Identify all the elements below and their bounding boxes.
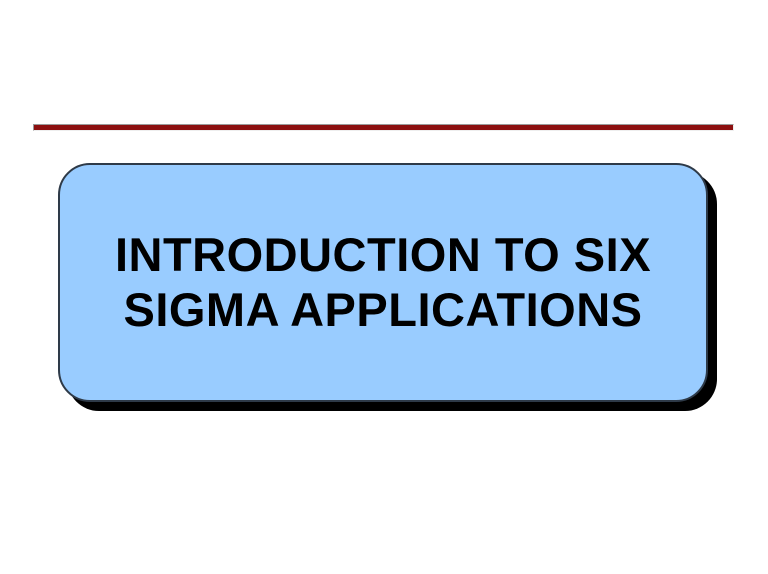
slide-title: INTRODUCTION TO SIX SIGMA APPLICATIONS	[101, 228, 665, 337]
presentation-slide: INTRODUCTION TO SIX SIGMA APPLICATIONS	[0, 0, 768, 574]
top-divider-rule	[33, 124, 734, 131]
title-box[interactable]: INTRODUCTION TO SIX SIGMA APPLICATIONS	[58, 163, 708, 402]
